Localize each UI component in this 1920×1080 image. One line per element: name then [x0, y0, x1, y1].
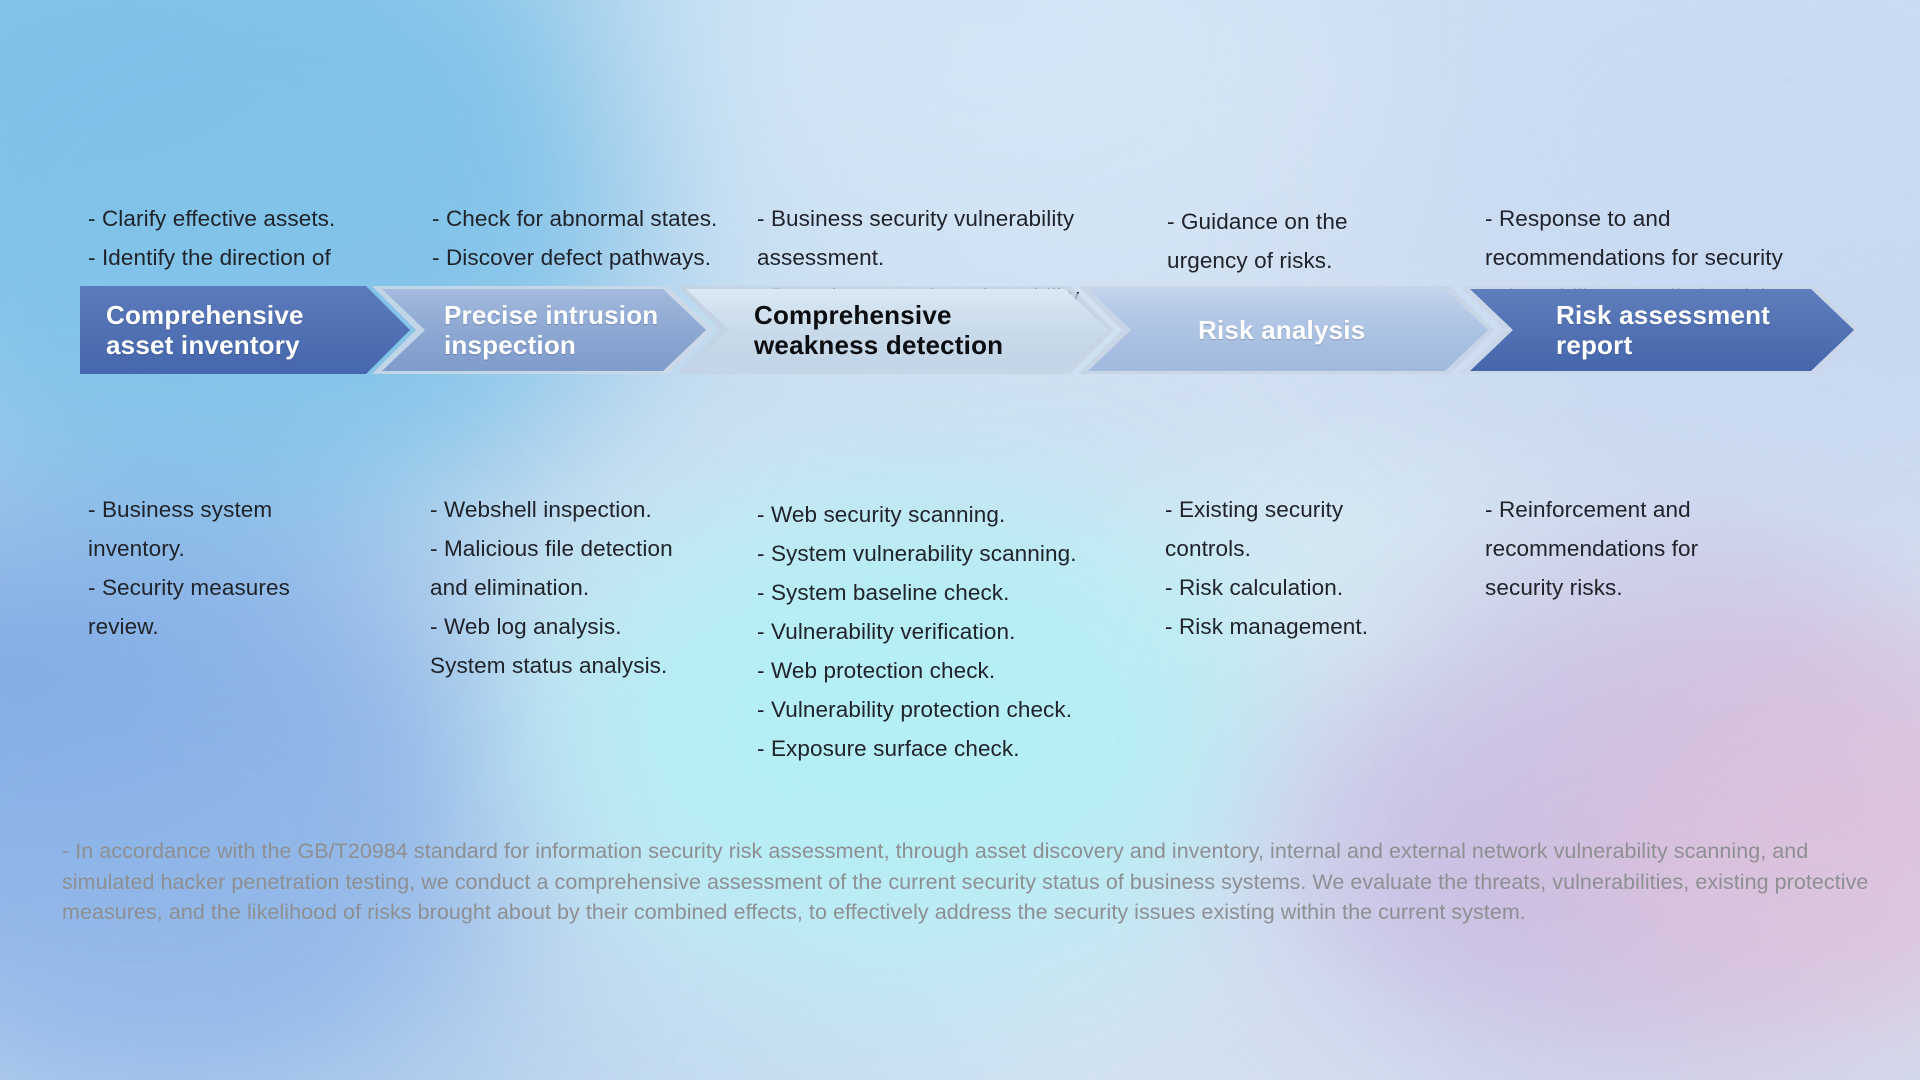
bullet-line: - Web protection check.	[757, 651, 1117, 690]
chevron-label-stage-5: Risk assessment report	[1556, 300, 1770, 360]
bullet-line: - Reinforcement and	[1485, 490, 1815, 529]
process-diagram: - Clarify effective assets. - Identify t…	[0, 0, 1920, 1080]
bullet-line: security risks.	[1485, 568, 1815, 607]
bullet-line: - Web security scanning.	[757, 495, 1117, 534]
chevron-stage-4[interactable]: Risk analysis	[1078, 286, 1494, 374]
bottom-bullets-stage-2: - Webshell inspection. - Malicious file …	[430, 490, 750, 685]
bullet-line: - Vulnerability protection check.	[757, 690, 1117, 729]
bullet-line: urgency of risks.	[1167, 241, 1427, 280]
bottom-bullets-stage-5: - Reinforcement and recommendations for …	[1485, 490, 1815, 607]
bullet-line: - Malicious file detection	[430, 529, 750, 568]
bullet-line: - Exposure surface check.	[757, 729, 1117, 768]
chevron-label-stage-3: Comprehensive weakness detection	[754, 300, 1003, 360]
bullet-line: - Vulnerability verification.	[757, 612, 1117, 651]
bullet-line: - Security measures	[88, 568, 388, 607]
bullet-line: and elimination.	[430, 568, 750, 607]
bullet-line: - Discover defect pathways.	[432, 238, 742, 277]
bottom-bullets-stage-4: - Existing security controls. - Risk cal…	[1165, 490, 1435, 646]
bullet-line: - Business system	[88, 490, 388, 529]
chevron-stage-2[interactable]: Precise intrusion inspection	[372, 286, 712, 374]
bullet-line: review.	[88, 607, 388, 646]
bullet-line: - Business security vulnerability	[757, 199, 1102, 238]
chevron-label-stage-1: Comprehensive asset inventory	[106, 300, 304, 360]
process-chevron-band: Comprehensive asset inventory Precise in…	[0, 286, 1920, 374]
bullet-line: - Webshell inspection.	[430, 490, 750, 529]
bullet-line: - Web log analysis.	[430, 607, 750, 646]
bullet-line: - Risk calculation.	[1165, 568, 1435, 607]
bottom-bullets-stage-3: - Web security scanning. - System vulner…	[757, 495, 1117, 768]
chevron-stage-5[interactable]: Risk assessment report	[1460, 286, 1860, 374]
bullet-line: - System baseline check.	[757, 573, 1117, 612]
bullet-line: - Clarify effective assets.	[88, 199, 388, 238]
bullet-line: - Risk management.	[1165, 607, 1435, 646]
bullet-line: - System vulnerability scanning.	[757, 534, 1117, 573]
bullet-line: controls.	[1165, 529, 1435, 568]
chevron-label-stage-2: Precise intrusion inspection	[444, 300, 658, 360]
bullet-line: - Guidance on the	[1167, 202, 1427, 241]
bullet-line: System status analysis.	[430, 646, 750, 685]
bullet-line: - Response to and	[1485, 199, 1815, 238]
bullet-line: recommendations for	[1485, 529, 1815, 568]
top-bullets-stage-2: - Check for abnormal states. - Discover …	[432, 199, 742, 277]
bullet-line: assessment.	[757, 238, 1102, 277]
chevron-label-stage-4: Risk analysis	[1198, 315, 1365, 345]
bottom-bullets-stage-1: - Business system inventory. - Security …	[88, 490, 388, 646]
chevron-stage-1[interactable]: Comprehensive asset inventory	[80, 286, 410, 374]
bullet-line: - Identify the direction of	[88, 238, 388, 277]
bullet-line: - Existing security	[1165, 490, 1435, 529]
chevron-stage-3[interactable]: Comprehensive weakness detection	[676, 286, 1114, 374]
footer-description: - In accordance with the GB/T20984 stand…	[62, 836, 1872, 928]
top-bullets-stage-4: - Guidance on the urgency of risks.	[1167, 202, 1427, 280]
bullet-line: recommendations for security	[1485, 238, 1815, 277]
bullet-line: inventory.	[88, 529, 388, 568]
bullet-line: - Check for abnormal states.	[432, 199, 742, 238]
